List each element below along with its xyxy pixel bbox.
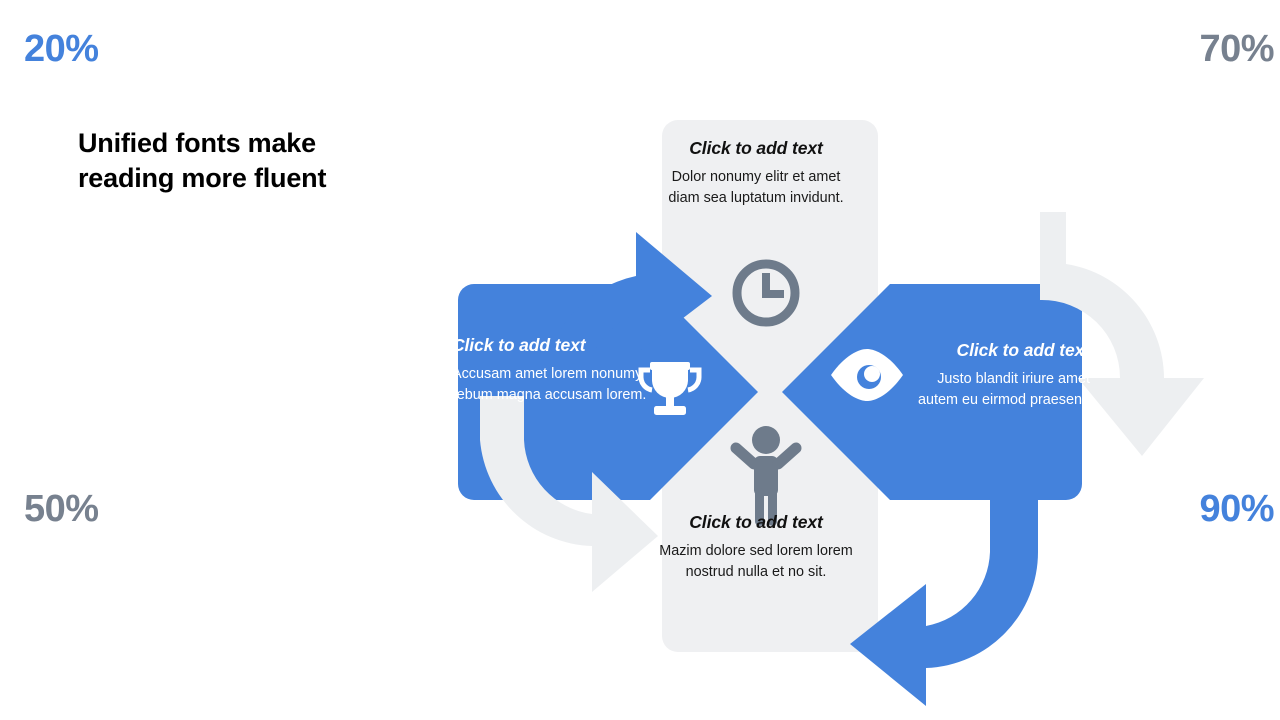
percent-top-left: 20%	[24, 30, 99, 68]
card-right-heading: Click to add text	[894, 340, 1090, 360]
cycle-diagram: Click to add text Dolor nonumy elitr et …	[430, 100, 1110, 660]
card-top[interactable]: Click to add text Dolor nonumy elitr et …	[658, 138, 854, 208]
page-title: Unified fonts make reading more fluent	[78, 126, 408, 195]
trophy-icon	[641, 362, 699, 415]
percent-bottom-right: 90%	[1199, 490, 1274, 528]
slide-canvas: Unified fonts make reading more fluent	[0, 0, 1280, 720]
card-bottom-body: Mazim dolore sed lorem lorem nostrud nul…	[658, 541, 854, 582]
card-left-body: Accusam amet lorem nonumy rebum magna ac…	[452, 364, 648, 405]
percent-bottom-left: 50%	[24, 490, 99, 528]
card-bottom-heading: Click to add text	[658, 512, 854, 532]
card-right[interactable]: Click to add text Justo blandit iriure a…	[894, 340, 1090, 410]
percent-top-right: 70%	[1199, 30, 1274, 68]
card-top-body: Dolor nonumy elitr et amet diam sea lupt…	[658, 167, 854, 208]
card-bottom[interactable]: Click to add text Mazim dolore sed lorem…	[658, 512, 854, 582]
clock-icon	[737, 264, 795, 322]
person-icon	[736, 426, 796, 526]
eye-icon	[831, 349, 903, 401]
card-top-heading: Click to add text	[658, 138, 854, 158]
card-left-heading: Click to add text	[452, 335, 648, 355]
card-right-body: Justo blandit iriure amet autem eu eirmo…	[894, 369, 1090, 410]
card-left[interactable]: Click to add text Accusam amet lorem non…	[452, 335, 648, 405]
